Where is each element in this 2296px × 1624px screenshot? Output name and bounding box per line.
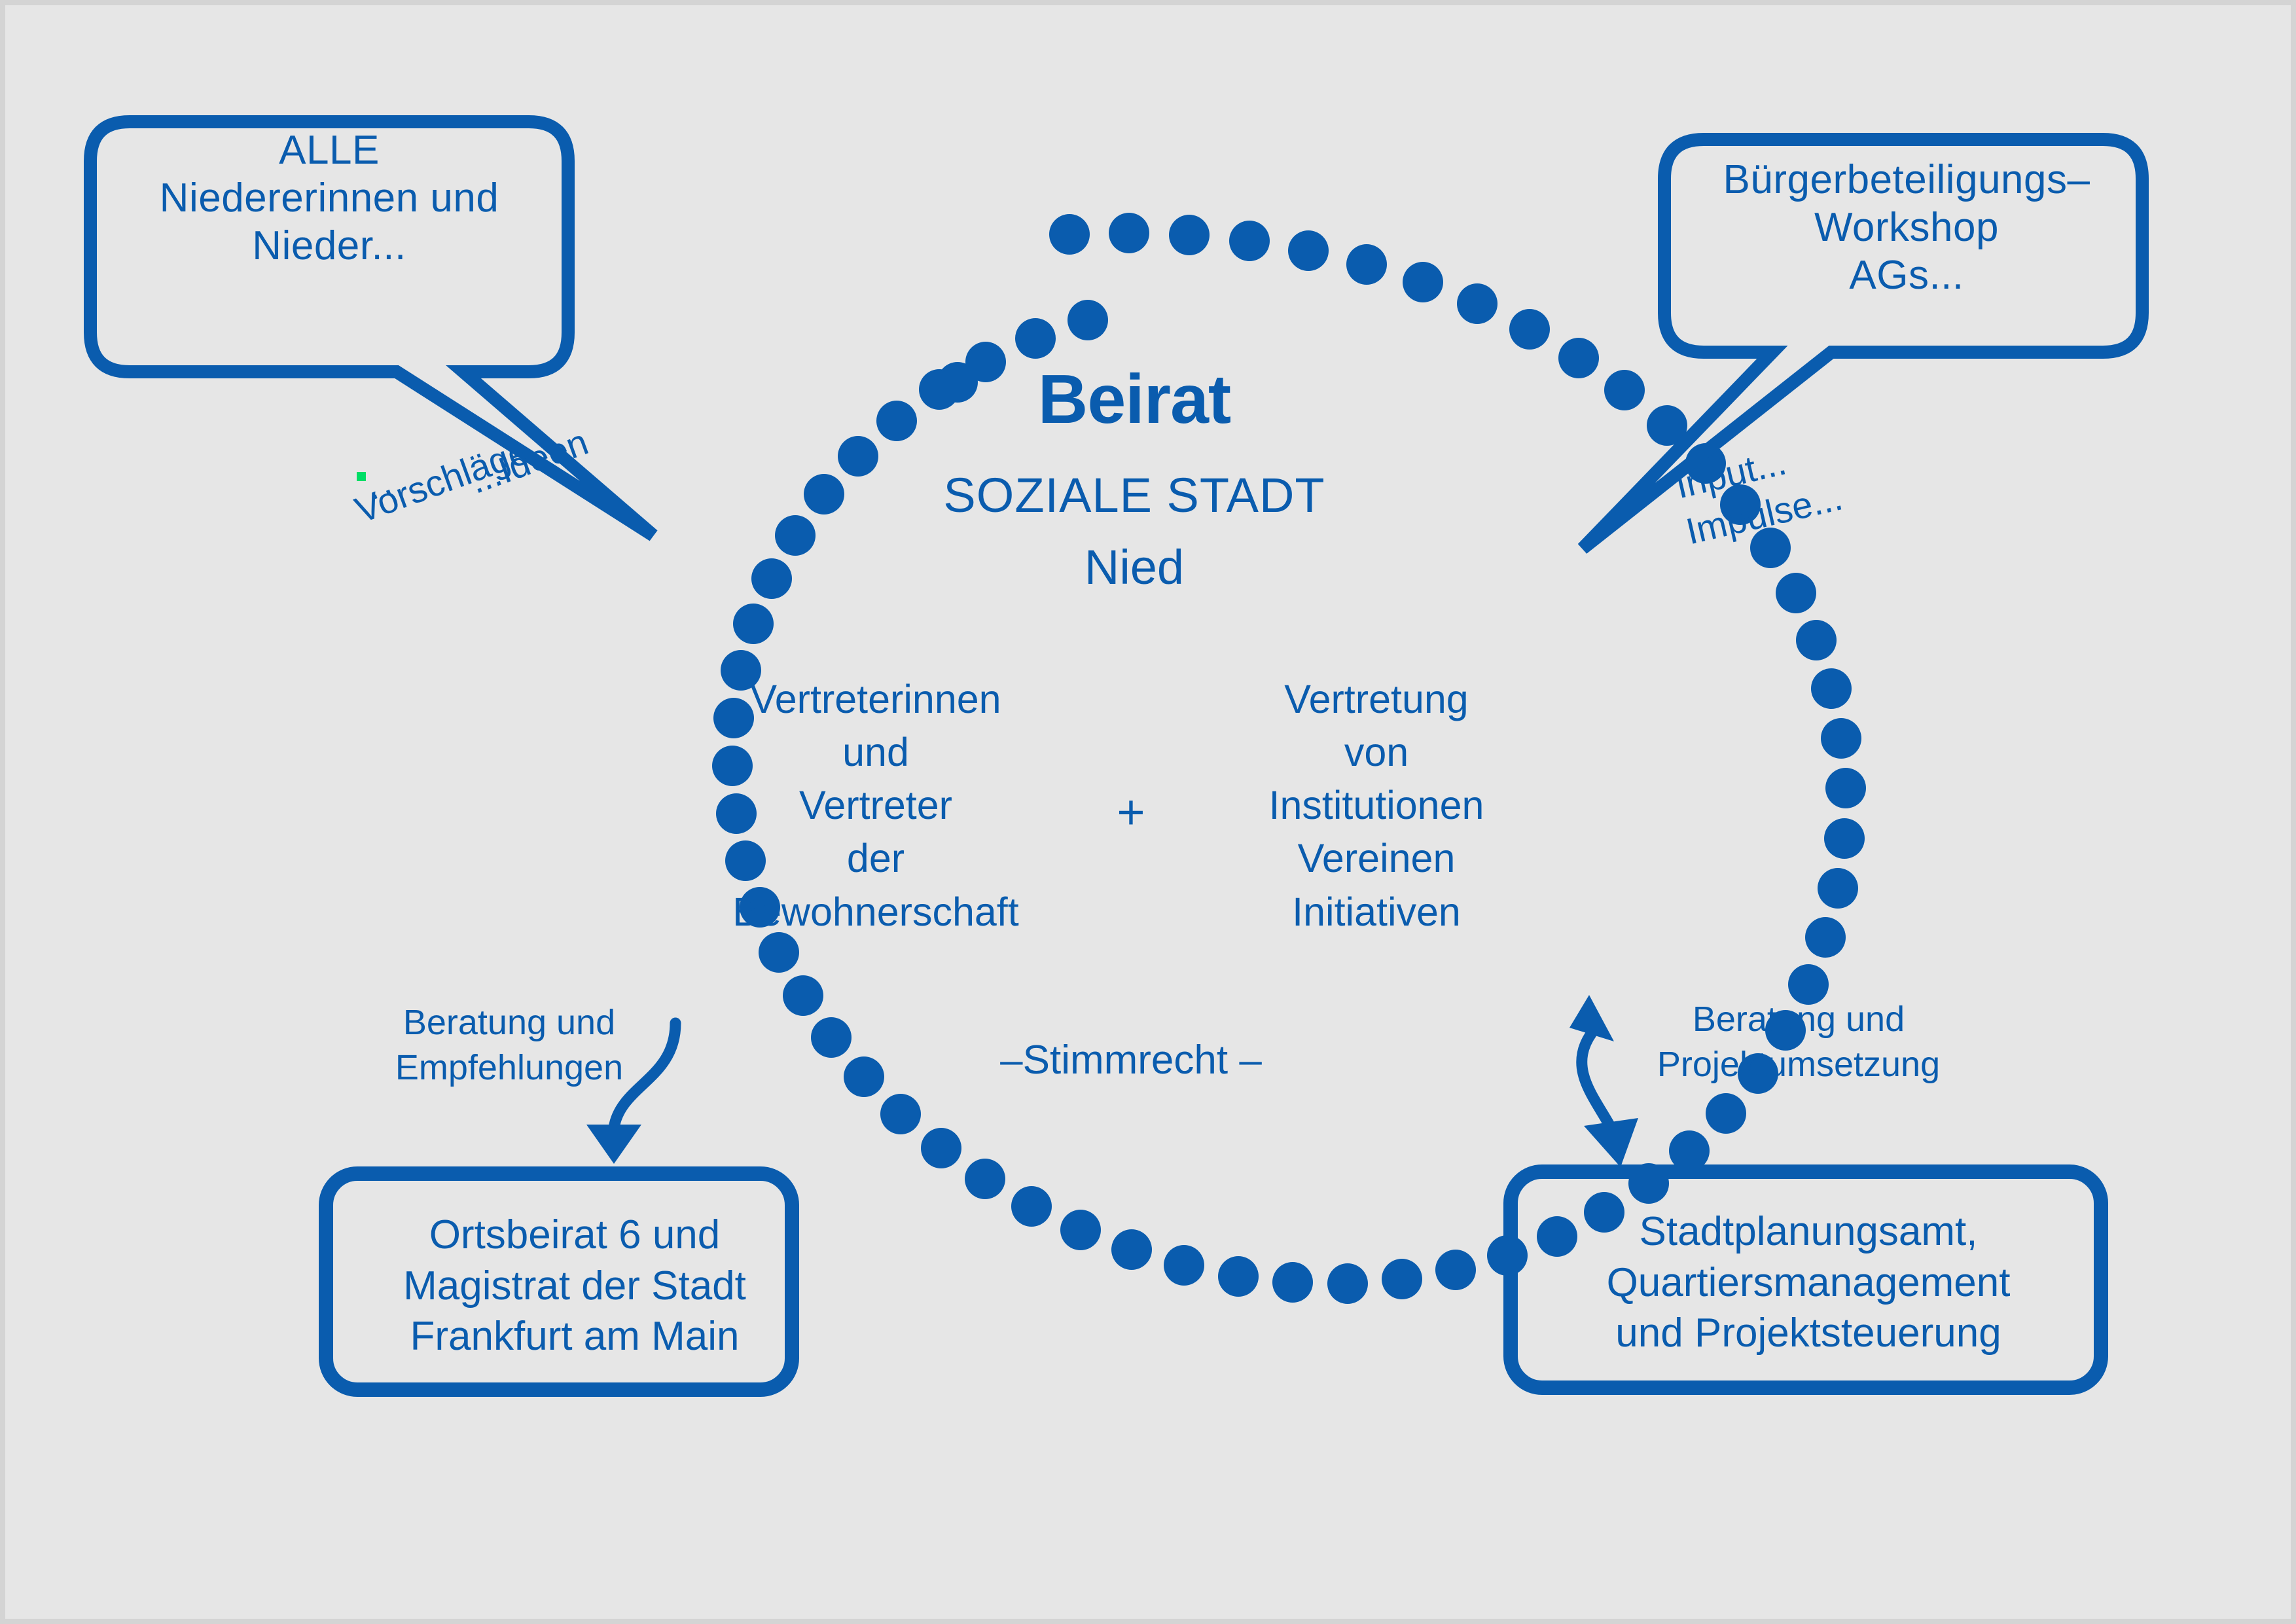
center-footer-stimmrecht: –Stimmrecht – [918,1036,1344,1084]
box-right-label: Stadtplanungsamt, Quartiersmanagement un… [1520,1206,2096,1359]
center-heading: Beirat [768,359,1501,441]
arrow-right-double [1570,995,1638,1167]
diagram-canvas: ALLE Niedererinnen und Nieder... Bürgerb… [5,5,2291,1619]
arrow-label-beratung-projektumsetzung: Beratung und Projektumsetzung [1645,997,1952,1087]
bubble-right-label: Bürgerbeteiligungs– Workshop AGs... [1668,156,2145,299]
box-left-label: Ortsbeirat 6 und Magistrat der Stadt Fra… [339,1210,810,1362]
center-subtitle-line1: SOZIALE STADT [768,467,1501,524]
center-column-left: Vertreterinnen und Vertreter der Bewohne… [692,673,1059,939]
bubble-left-label: ALLE Niedererinnen und Nieder... [90,126,568,270]
diagram-page: ALLE Niedererinnen und Nieder... Bürgerb… [0,0,2296,1624]
arrow-label-beratung-empfehlungen: Beratung und Empfehlungen [372,1000,647,1091]
center-plus-sign: + [1079,784,1183,840]
center-subtitle-line2: Nied [768,539,1501,596]
center-column-right: Vertretung von Institutionen Vereinen In… [1206,673,1547,939]
